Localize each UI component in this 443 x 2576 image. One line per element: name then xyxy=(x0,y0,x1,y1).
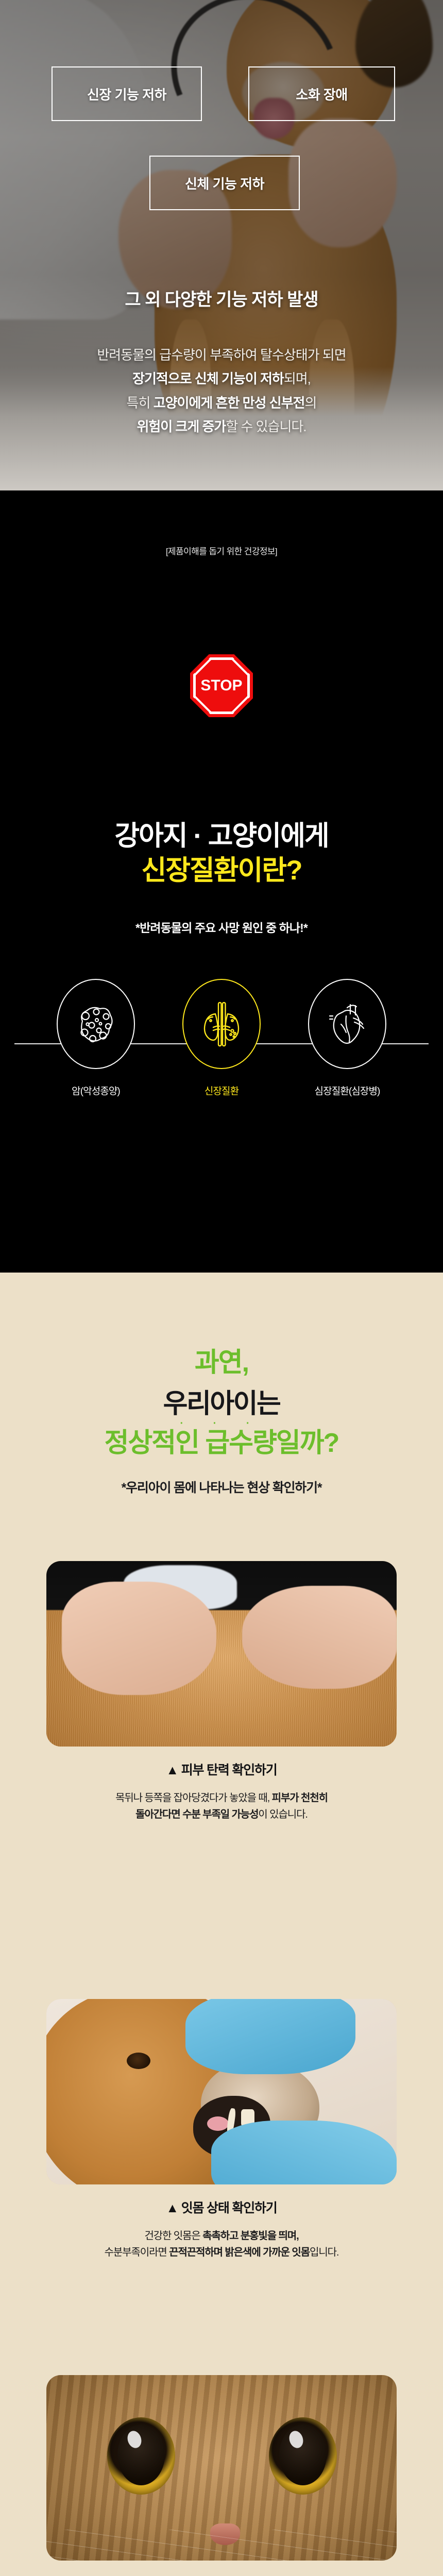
hero-body-line-4: 위험이 크게 증가할 수 있습니다. xyxy=(0,415,443,438)
check-card-caption: ▲ 피부 탄력 확인하기 xyxy=(0,1760,443,1778)
section-title-line1: 강아지 · 고양이에게 xyxy=(114,821,328,851)
hero-body-text: 반려동물의 급수량이 부족하여 탈수상태가 되면 장기적으로 신체 기능이 저하… xyxy=(0,343,443,438)
disease-item-kidney: 신장질환 xyxy=(159,979,284,1097)
symptom-badge-body-function: 신체 기능 저하 xyxy=(149,156,300,210)
symptom-badge-label: 신장 기능 저하 xyxy=(87,84,166,104)
bracket-label: [제품이해를 돕기 위한 건강정보] xyxy=(0,544,443,557)
section-title: 강아지 · 고양이에게 신장질환이란? xyxy=(0,820,443,887)
beige-subtitle: *우리아이 몸에 나타나는 현상 확인하기* xyxy=(0,1478,443,1496)
section-title-line2: 신장질환이란? xyxy=(0,855,443,887)
symptom-badge-kidney: 신장 기능 저하 xyxy=(52,66,202,121)
check-card-caption: ▲ 눈 상태 확인하기 xyxy=(0,2574,443,2576)
hero-section: 신장 기능 저하 소화 장애 신체 기능 저하 그 외 다양한 기능 저하 발생… xyxy=(0,0,443,490)
disease-label-cancer: 암(악성종양) xyxy=(72,1083,120,1097)
stop-sign-wrap: STOP xyxy=(0,654,443,717)
check-card-eyes: ▲ 눈 상태 확인하기 눈빛이 흐리거나 눈이 폭 꺼져 보이거나 눈 주변이 … xyxy=(0,2375,443,2576)
cat-face-closeup-eyes-photo xyxy=(46,2375,397,2561)
beige-heading-dark: 우리아이는 xyxy=(0,1382,443,1420)
section-note: *반려동물의 주요 사망 원인 중 하나!* xyxy=(0,918,443,936)
symptom-badge-label: 소화 장애 xyxy=(296,84,347,104)
disease-item-heart: 심장질환(심장병) xyxy=(284,979,410,1097)
hands-pinching-dog-skin-photo xyxy=(46,1561,397,1747)
hero-headline: 그 외 다양한 기능 저하 발생 xyxy=(0,285,443,311)
vet-checking-dog-gums-photo xyxy=(46,1999,397,2184)
disease-label-kidney: 신장질환 xyxy=(205,1083,238,1097)
check-card-body: 건강한 잇몸은 촉촉하고 분홍빛을 띄며, 수분부족이라면 끈적끈적하며 밝은색… xyxy=(0,2228,443,2261)
hero-body-line-3: 특히 고양이에게 흔한 만성 신부전의 xyxy=(0,391,443,415)
check-card-skin: ▲ 피부 탄력 확인하기 목뒤나 등쪽을 잡아당겼다가 놓았을 때, 피부가 천… xyxy=(0,1561,443,1823)
symptom-badge-label: 신체 기능 저하 xyxy=(185,174,264,193)
disease-item-cancer: 암(악성종양) xyxy=(33,979,159,1097)
beige-heading-green-1: 과연, xyxy=(0,1341,443,1379)
symptom-badge-digestion: 소화 장애 xyxy=(248,66,395,121)
hero-body-line-1: 반려동물의 급수량이 부족하여 탈수상태가 되면 xyxy=(0,343,443,367)
stop-sign-label: STOP xyxy=(200,677,242,694)
disease-label-heart: 심장질환(심장병) xyxy=(315,1083,380,1097)
check-card-caption: ▲ 잇몸 상태 확인하기 xyxy=(0,2198,443,2216)
hero-body-line-2: 장기적으로 신체 기능이 저하되며, xyxy=(0,367,443,391)
check-card-gums: ▲ 잇몸 상태 확인하기 건강한 잇몸은 촉촉하고 분홍빛을 띄며, 수분부족이… xyxy=(0,1999,443,2261)
stop-sign-icon: STOP xyxy=(190,654,253,717)
hydration-check-section: 과연, 우리아이는 · · · 정상적인 급수량일까? *우리아이 몸에 나타나… xyxy=(0,1273,443,2576)
check-card-body: 목뒤나 등쪽을 잡아당겼다가 놓았을 때, 피부가 천천히 돌아간다면 수분 부… xyxy=(0,1790,443,1823)
kidneys-icon xyxy=(182,979,261,1069)
cancer-cells-icon xyxy=(57,979,135,1069)
beige-heading-green-2: 정상적인 급수량일까? xyxy=(0,1421,443,1460)
kidney-disease-section: [제품이해를 돕기 위한 건강정보] STOP 강아지 · 고양이에게 신장질환… xyxy=(0,490,443,1273)
heart-icon xyxy=(308,979,386,1069)
disease-icon-row: 암(악성종양) 신장질환 xyxy=(0,979,443,1097)
